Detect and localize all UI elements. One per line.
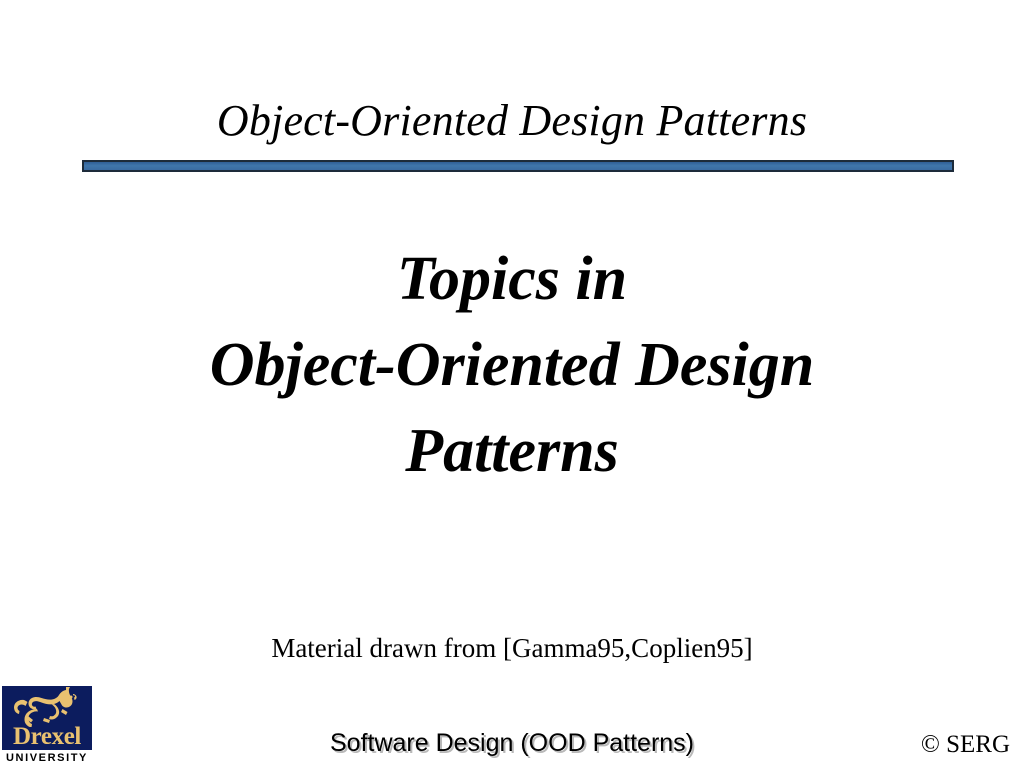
main-heading-line-3: Patterns (0, 408, 1024, 494)
main-heading-line-2: Object-Oriented Design (0, 322, 1024, 408)
main-heading: Topics in Object-Oriented Design Pattern… (0, 236, 1024, 494)
drexel-university-logo: Drexel UNIVERSITY (2, 686, 92, 766)
attribution-text: Material drawn from [Gamma95,Coplien95] (0, 632, 1024, 664)
main-heading-line-1: Topics in (0, 236, 1024, 322)
title-divider-bar (82, 160, 954, 172)
slide-canvas: Object-Oriented Design Patterns Topics i… (0, 0, 1024, 768)
page-title: Object-Oriented Design Patterns (0, 96, 1024, 146)
footer-course-label: Software Design (OOD Patterns) (0, 729, 1024, 758)
footer-copyright: © SERG (921, 730, 1010, 759)
logo-navy-panel: Drexel (2, 686, 92, 750)
dragon-icon (6, 687, 88, 727)
logo-wordmark: Drexel (2, 724, 92, 750)
logo-subtitle: UNIVERSITY (2, 751, 92, 766)
title-divider-fill (84, 162, 952, 170)
